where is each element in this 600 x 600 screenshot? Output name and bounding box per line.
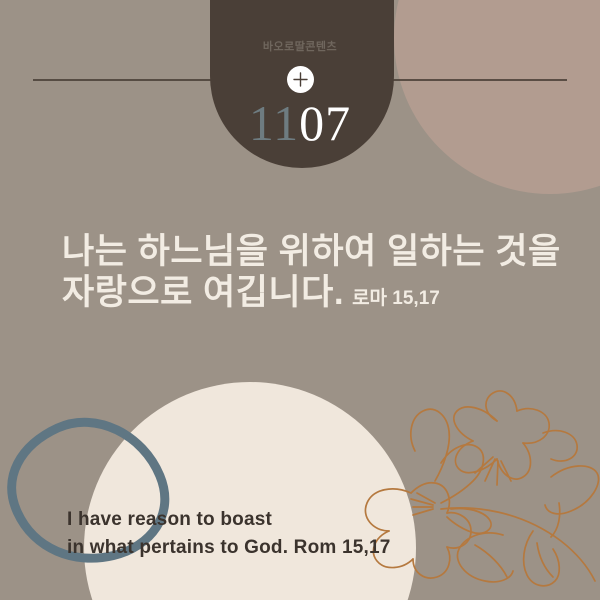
floral-line-art-decor (355, 385, 600, 600)
korean-verse-line-2: 자랑으로 여깁니다. (62, 273, 344, 312)
brand-label: 바오로딸콘텐츠 (0, 38, 600, 54)
pink-circle-decor (394, 0, 600, 194)
issue-number: 1107 (0, 98, 600, 148)
korean-verse-reference: 로마 15,17 (352, 288, 440, 309)
scripture-card: 바오로딸콘텐츠 1107 나는 하느님을 위하여 일하는 것을 자랑으로 여깁니… (0, 0, 600, 600)
plus-badge[interactable] (287, 66, 314, 93)
plus-icon (293, 72, 308, 87)
english-verse-line-1: I have reason to boast (67, 506, 391, 534)
korean-verse: 나는 하느님을 위하여 일하는 것을 자랑으로 여깁니다.로마 15,17 (62, 232, 582, 313)
issue-number-suffix: 07 (299, 95, 351, 151)
english-verse: I have reason to boast in what pertains … (67, 506, 391, 561)
issue-number-prefix: 11 (249, 95, 299, 151)
korean-verse-line-1: 나는 하느님을 위하여 일하는 것을 (62, 232, 582, 273)
english-verse-line-2: in what pertains to God. Rom 15,17 (67, 534, 391, 562)
